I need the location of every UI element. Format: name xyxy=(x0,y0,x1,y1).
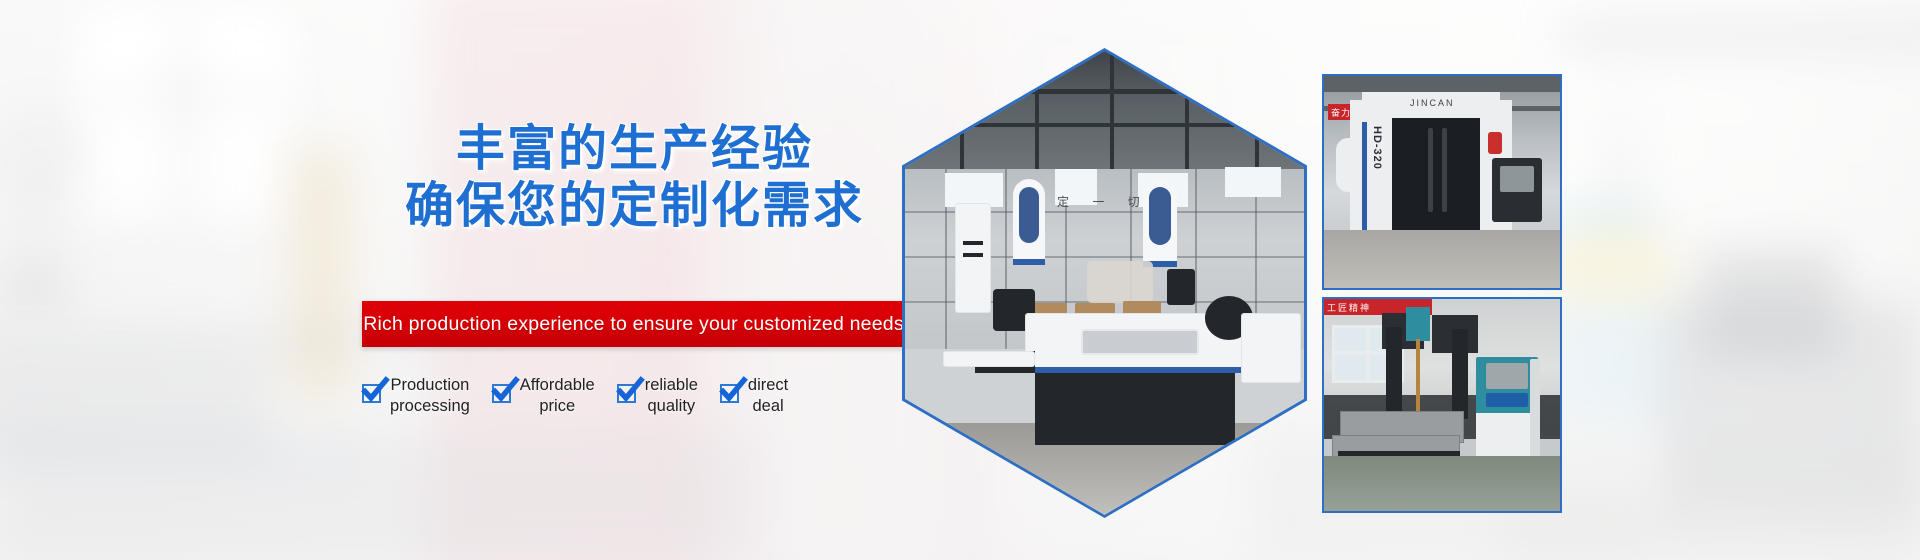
feature-item-affordable-price[interactable]: Affordable price xyxy=(492,375,595,417)
roof-truss xyxy=(905,123,1304,127)
checkbox-checked-icon[interactable] xyxy=(720,384,739,403)
shop-floor xyxy=(1324,230,1560,288)
roof-purlin xyxy=(1110,51,1114,171)
roof-purlin xyxy=(960,51,964,171)
wall-banner-text: 工匠精神 xyxy=(1324,301,1371,314)
wrapped-material xyxy=(1087,261,1153,303)
machine-head xyxy=(1167,269,1195,305)
edm-head xyxy=(1406,307,1430,341)
wall-window xyxy=(945,173,1003,207)
machine-vent xyxy=(963,241,983,245)
headline-line-1: 丰富的生产经验 xyxy=(362,120,907,177)
cnc-screen xyxy=(1500,166,1534,192)
roof-purlin xyxy=(1255,51,1259,171)
checkbox-checked-icon[interactable] xyxy=(617,384,636,403)
machine-right-unit xyxy=(1241,313,1301,383)
cnc-emergency-strip xyxy=(1488,132,1502,154)
cnc-brand-label: JINCAN xyxy=(1410,98,1455,108)
headline-line-2: 确保您的定制化需求 xyxy=(362,177,907,234)
cnc-model-label: HD-320 xyxy=(1371,126,1383,170)
headline: 丰富的生产经验 确保您的定制化需求 xyxy=(362,120,907,235)
feature-label-word-2: processing xyxy=(390,396,470,417)
feature-label-word-1: reliable xyxy=(645,375,698,396)
feature-label-word-2: price xyxy=(520,396,595,417)
roof-purlin xyxy=(1185,51,1189,171)
factory-workshop-image: 定 一 切 xyxy=(905,51,1304,515)
machine-vent xyxy=(963,253,983,257)
feature-label-word-1: Affordable xyxy=(520,375,595,396)
shop-floor xyxy=(1324,456,1560,511)
machine-panel-left xyxy=(1019,187,1039,243)
feature-item-reliable-quality[interactable]: reliable quality xyxy=(617,375,698,417)
cnc-door-handle xyxy=(1442,128,1447,212)
feature-label: direct deal xyxy=(748,375,788,417)
feature-label: Production processing xyxy=(390,375,470,417)
feature-label-word-1: direct xyxy=(748,375,788,396)
subtitle-banner: Rich production experience to ensure you… xyxy=(362,301,905,347)
workshop-roof xyxy=(905,51,1304,171)
cnc-doors xyxy=(1392,118,1480,238)
machine-cabinet-left xyxy=(955,203,991,313)
wall-sign-text: 定 一 切 xyxy=(1057,193,1150,210)
feature-label: Affordable price xyxy=(520,375,595,417)
edm-wire xyxy=(1416,339,1420,417)
edm-cabinet-vent xyxy=(1530,359,1540,459)
ceiling-beam xyxy=(1324,76,1560,92)
machine-panel-right xyxy=(1149,187,1171,245)
side-photo-wirecut-edm: 工匠精神 xyxy=(1322,297,1562,513)
machine-blue-trim xyxy=(1013,259,1045,265)
side-photo-cnc-machining-center: 奋力 JINCAN HD-320 xyxy=(1322,74,1562,290)
cnc-side-unit xyxy=(1336,138,1362,192)
roof-purlin xyxy=(1035,51,1039,171)
subtitle-text: Rich production experience to ensure you… xyxy=(363,313,904,336)
edm-screen xyxy=(1486,363,1528,389)
edm-column-left xyxy=(1386,327,1402,423)
feature-label: reliable quality xyxy=(645,375,698,417)
hero-banner: 丰富的生产经验 确保您的定制化需求 Rich production experi… xyxy=(0,0,1920,560)
machine-base-black xyxy=(1035,373,1235,445)
machine-rail xyxy=(943,351,1035,367)
checkbox-checked-icon[interactable] xyxy=(362,384,381,403)
feature-label-word-1: Production xyxy=(390,375,470,396)
feature-item-production-processing[interactable]: Production processing xyxy=(362,375,470,417)
hero-hexagon-photo: 定 一 切 xyxy=(902,48,1307,518)
checkbox-checked-icon[interactable] xyxy=(492,384,511,403)
feature-label-word-2: deal xyxy=(748,396,788,417)
cnc-door-handle xyxy=(1428,128,1433,212)
roof-truss xyxy=(905,89,1304,94)
hexagon-photo-clip: 定 一 切 xyxy=(905,51,1304,515)
cnc-blue-stripe xyxy=(1362,122,1367,232)
edm-keypad xyxy=(1486,393,1528,407)
edm-column-right xyxy=(1452,329,1468,419)
machine-window xyxy=(1081,329,1199,355)
feature-label-word-2: quality xyxy=(645,396,698,417)
cnc-keypad xyxy=(1500,198,1534,214)
feature-item-direct-deal[interactable]: direct deal xyxy=(720,375,788,417)
wall-window xyxy=(1225,167,1281,197)
feature-list: Production processing Affordable price xyxy=(362,375,922,423)
